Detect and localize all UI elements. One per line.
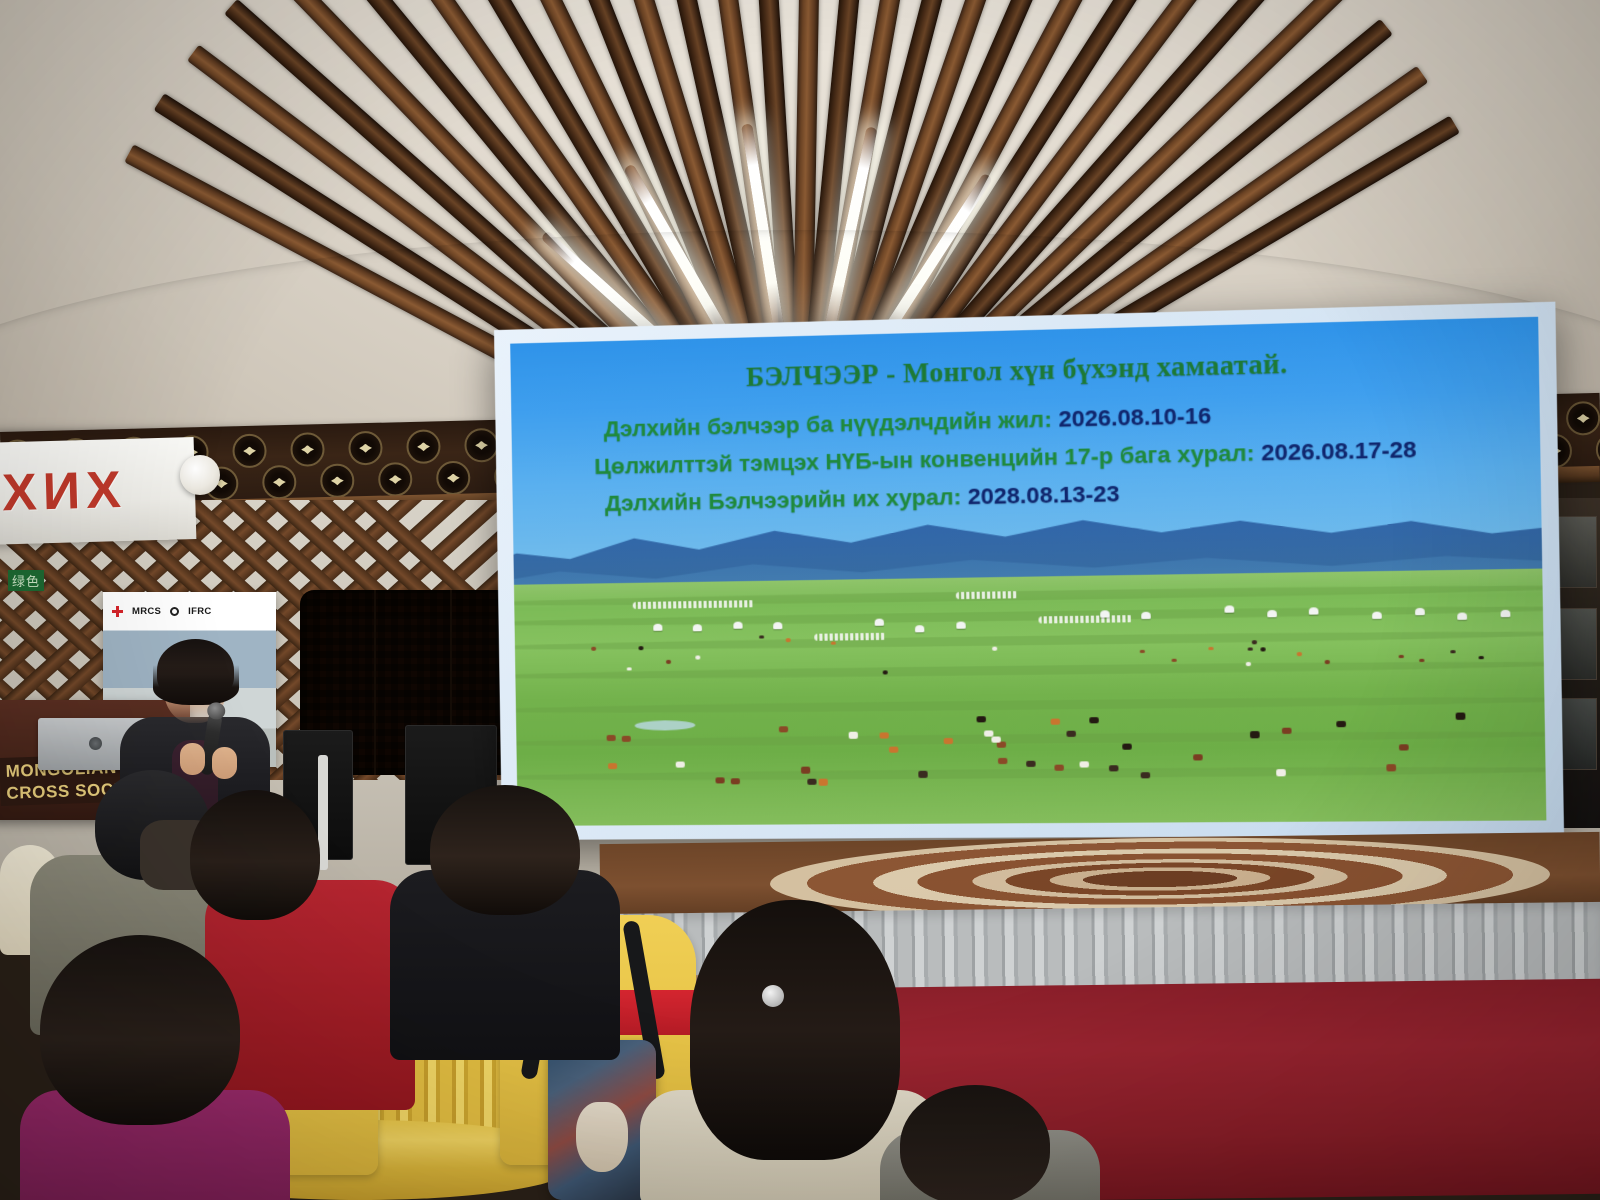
livestock-icon: [1387, 765, 1397, 772]
logo-ifrc-label: IFRC: [188, 606, 211, 617]
grass-band: [510, 729, 1546, 748]
slide-text-block: БЭЛЧЭЭР - Монгол хүн бүхэнд хамаатай. Дэ…: [510, 317, 1541, 519]
livestock-icon: [889, 746, 898, 752]
livestock-icon: [759, 635, 764, 639]
livestock-icon: [998, 758, 1007, 765]
audience-head-3: [40, 935, 240, 1125]
livestock-icon: [1455, 713, 1465, 720]
livestock-icon: [1419, 658, 1424, 662]
livestock-icon: [1277, 769, 1287, 776]
livestock-icon: [1250, 731, 1260, 738]
livestock-icon: [591, 647, 596, 651]
ornament-medallion-icon: [232, 433, 267, 468]
slide-line-1-date: 2026.08.10-16: [1058, 403, 1211, 432]
livestock-icon: [695, 656, 700, 660]
livestock-icon: [1248, 647, 1253, 651]
audience-head-5: [690, 900, 900, 1160]
ger-yurt-icon: [1100, 610, 1110, 617]
livestock-icon: [622, 736, 631, 742]
hair-clip-icon: [762, 985, 784, 1007]
wall-banner: ХИХ: [0, 437, 196, 545]
wall-lamp-icon: [180, 455, 220, 495]
sheep-flock: [814, 633, 886, 641]
livestock-icon: [1066, 731, 1076, 738]
livestock-icon: [1080, 761, 1090, 768]
livestock-icon: [716, 777, 725, 783]
livestock-icon: [778, 726, 787, 732]
livestock-icon: [1260, 648, 1265, 652]
ornament-medallion-icon: [262, 465, 297, 500]
livestock-icon: [992, 647, 997, 651]
ornament-medallion-icon: [464, 428, 499, 463]
ger-yurt-icon: [1267, 610, 1277, 617]
livestock-icon: [1055, 764, 1065, 771]
ger-yurt-icon: [1372, 611, 1382, 618]
wall-banner-text: ХИХ: [1, 460, 127, 523]
grass-band: [510, 628, 1546, 652]
ornament-medallion-icon: [436, 461, 471, 496]
slide-line-2-label: Цөлжилттэй тэмцэх НҮБ-ын конвенцийн 17-р…: [594, 440, 1255, 479]
sheep-flock: [1038, 615, 1132, 623]
livestock-icon: [666, 660, 671, 664]
ornament-medallion-icon: [1596, 432, 1600, 467]
livestock-icon: [1336, 721, 1346, 728]
livestock-icon: [1281, 728, 1291, 735]
slide-steppe: [514, 569, 1546, 826]
slide-line-1-label: Дэлхийн бэлчээр ба нүүдэлчдийн жил:: [604, 406, 1053, 441]
screen-frame: БЭЛЧЭЭР - Монгол хүн бүхэнд хамаатай. Дэ…: [494, 302, 1564, 840]
slide-content: БЭЛЧЭЭР - Монгол хүн бүхэнд хамаатай. Дэ…: [510, 317, 1546, 826]
livestock-icon: [880, 733, 889, 739]
projection-screen: БЭЛЧЭЭР - Монгол хүн бүхэнд хамаатай. Дэ…: [494, 302, 1564, 840]
ger-yurt-icon: [915, 625, 924, 632]
livestock-icon: [801, 767, 810, 773]
livestock-icon: [976, 716, 985, 723]
livestock-icon: [1171, 658, 1176, 662]
speaker-hand-right: [212, 747, 237, 779]
livestock-icon: [1478, 656, 1483, 660]
livestock-icon: [1399, 744, 1409, 751]
slide-line-3-date: 2028.08.13-23: [968, 481, 1120, 509]
livestock-icon: [1324, 660, 1329, 664]
slide-line-1: Дэлхийн бэлчээр ба нүүдэлчдийн жил: 2026…: [604, 396, 1508, 443]
water-patch: [635, 720, 696, 731]
ger-yurt-icon: [1415, 608, 1425, 615]
ornament-medallion-icon: [1566, 401, 1600, 436]
livestock-icon: [1140, 772, 1150, 779]
livestock-icon: [606, 735, 615, 741]
livestock-icon: [991, 736, 1000, 743]
livestock-icon: [626, 667, 631, 671]
audience-head-2: [190, 790, 320, 920]
livestock-icon: [883, 671, 888, 675]
livestock-icon: [638, 647, 643, 651]
ger-yurt-icon: [1309, 607, 1319, 614]
mrcs-mark-icon: [170, 607, 179, 616]
audience-head-4: [430, 785, 580, 915]
speaker-hair: [157, 639, 234, 701]
livestock-icon: [1252, 640, 1257, 644]
ornament-medallion-icon: [320, 463, 355, 498]
livestock-icon: [676, 762, 685, 768]
ger-yurt-icon: [956, 622, 965, 629]
speaker-hand-left: [180, 743, 205, 775]
red-cross-icon: [112, 606, 123, 617]
livestock-icon: [1051, 718, 1061, 725]
presentation-photo-scene: ХИХ 绿色 MRCS IFRC MONGOLIAN RED CROSS SOC…: [0, 0, 1600, 1200]
livestock-icon: [1208, 646, 1213, 650]
slide-line-2-date: 2026.08.17-28: [1261, 436, 1417, 465]
ornament-medallion-icon: [378, 462, 413, 497]
livestock-icon: [849, 732, 858, 738]
livestock-icon: [1122, 743, 1132, 750]
livestock-icon: [943, 738, 952, 745]
livestock-icon: [1399, 655, 1404, 659]
slide-line-2: Цөлжилттэй тэмцэх НҮБ-ын конвенцийн 17-р…: [594, 434, 1508, 480]
livestock-icon: [1297, 652, 1302, 656]
grass-band: [510, 694, 1546, 715]
livestock-icon: [1109, 765, 1119, 772]
livestock-icon: [818, 779, 827, 785]
livestock-icon: [1450, 650, 1455, 654]
livestock-icon: [786, 638, 791, 642]
ornament-medallion-icon: [348, 431, 383, 466]
ger-yurt-icon: [1225, 606, 1235, 613]
ger-yurt-icon: [1142, 612, 1152, 619]
backpack-face-print: [576, 1102, 628, 1172]
ger-yurt-icon: [773, 622, 782, 629]
ger-yurt-icon: [693, 624, 702, 631]
audience-head-6: [900, 1085, 1050, 1200]
logo-mrcs-label: MRCS: [132, 606, 161, 617]
poster-logo-row: MRCS IFRC: [103, 592, 276, 630]
cabinet-label: 绿色: [8, 570, 44, 591]
ger-yurt-icon: [733, 621, 742, 628]
ornament-medallion-icon: [290, 432, 325, 467]
livestock-icon: [1193, 754, 1203, 761]
ger-yurt-icon: [653, 624, 662, 631]
ger-yurt-icon: [1500, 609, 1510, 616]
ger-yurt-icon: [875, 618, 884, 625]
slide-line-3-label: Дэлхийн Бэлчээрийн их хурал:: [605, 484, 962, 516]
livestock-icon: [807, 779, 816, 785]
livestock-icon: [731, 778, 740, 784]
sheep-flock: [633, 600, 755, 609]
livestock-icon: [1026, 760, 1035, 767]
ger-yurt-icon: [1457, 612, 1467, 619]
livestock-icon: [1089, 717, 1099, 724]
livestock-icon: [1140, 649, 1145, 653]
livestock-icon: [1245, 662, 1250, 666]
ornament-medallion-icon: [406, 429, 441, 464]
slide-title: БЭЛЧЭЭР - Монгол хүн бүхэнд хамаатай.: [541, 343, 1507, 398]
livestock-icon: [918, 771, 927, 777]
livestock-icon: [608, 763, 617, 769]
